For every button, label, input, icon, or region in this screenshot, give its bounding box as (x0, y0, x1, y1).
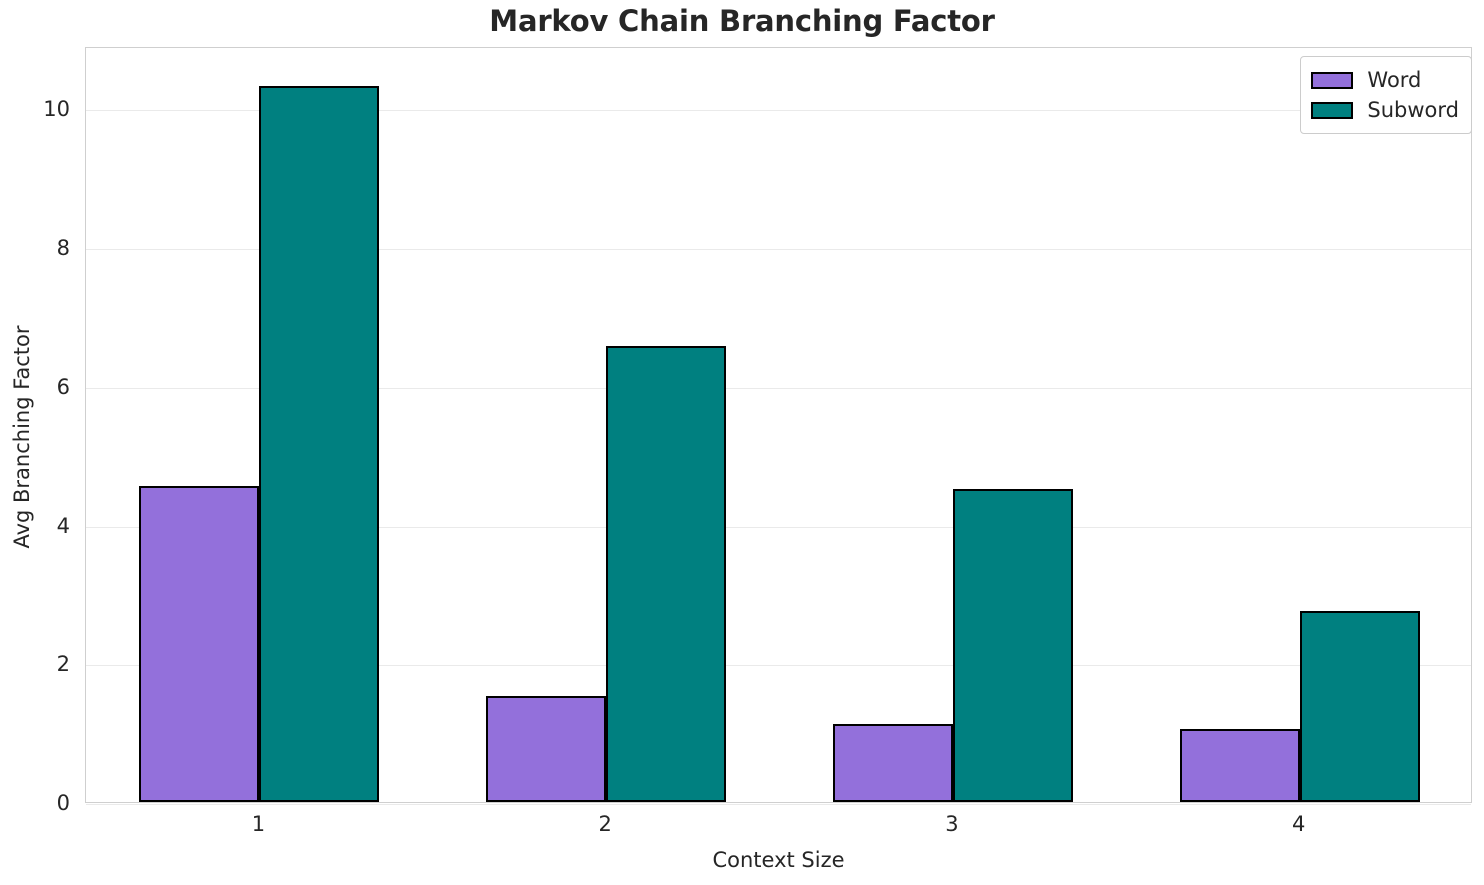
y-axis-tick-label: 6 (8, 375, 70, 399)
plot-area (85, 47, 1472, 803)
y-axis-tick-labels: 0246810 (0, 47, 70, 803)
y-axis-tick-label: 0 (8, 791, 70, 815)
bar-subword-1 (259, 86, 379, 802)
legend-label: Word (1367, 68, 1421, 92)
bar-subword-2 (606, 346, 726, 802)
gridline (86, 804, 1471, 805)
bar-subword-3 (953, 489, 1073, 802)
x-axis-tick-label: 2 (545, 812, 665, 836)
bar-word-4 (1180, 729, 1300, 802)
y-axis-tick-label: 2 (8, 652, 70, 676)
legend-swatch-icon (1311, 102, 1353, 119)
chart-figure: Markov Chain Branching Factor Avg Branch… (0, 0, 1484, 885)
x-axis-label: Context Size (85, 848, 1472, 872)
y-axis-tick-label: 8 (8, 236, 70, 260)
bar-word-1 (139, 486, 259, 802)
x-axis-tick-label: 4 (1239, 812, 1359, 836)
x-axis-tick-labels: 1234 (85, 812, 1472, 844)
legend-item-subword[interactable]: Subword (1311, 95, 1459, 125)
chart-title: Markov Chain Branching Factor (0, 4, 1484, 38)
bars-layer (86, 48, 1471, 802)
legend-label: Subword (1367, 98, 1459, 122)
x-axis-tick-label: 3 (892, 812, 1012, 836)
bar-word-3 (833, 724, 953, 802)
x-axis-tick-label: 1 (198, 812, 318, 836)
bar-word-2 (486, 696, 606, 802)
legend-swatch-icon (1311, 72, 1353, 89)
y-axis-tick-label: 4 (8, 514, 70, 538)
bar-subword-4 (1300, 611, 1420, 802)
legend: WordSubword (1300, 56, 1472, 134)
legend-item-word[interactable]: Word (1311, 65, 1459, 95)
y-axis-tick-label: 10 (8, 97, 70, 121)
